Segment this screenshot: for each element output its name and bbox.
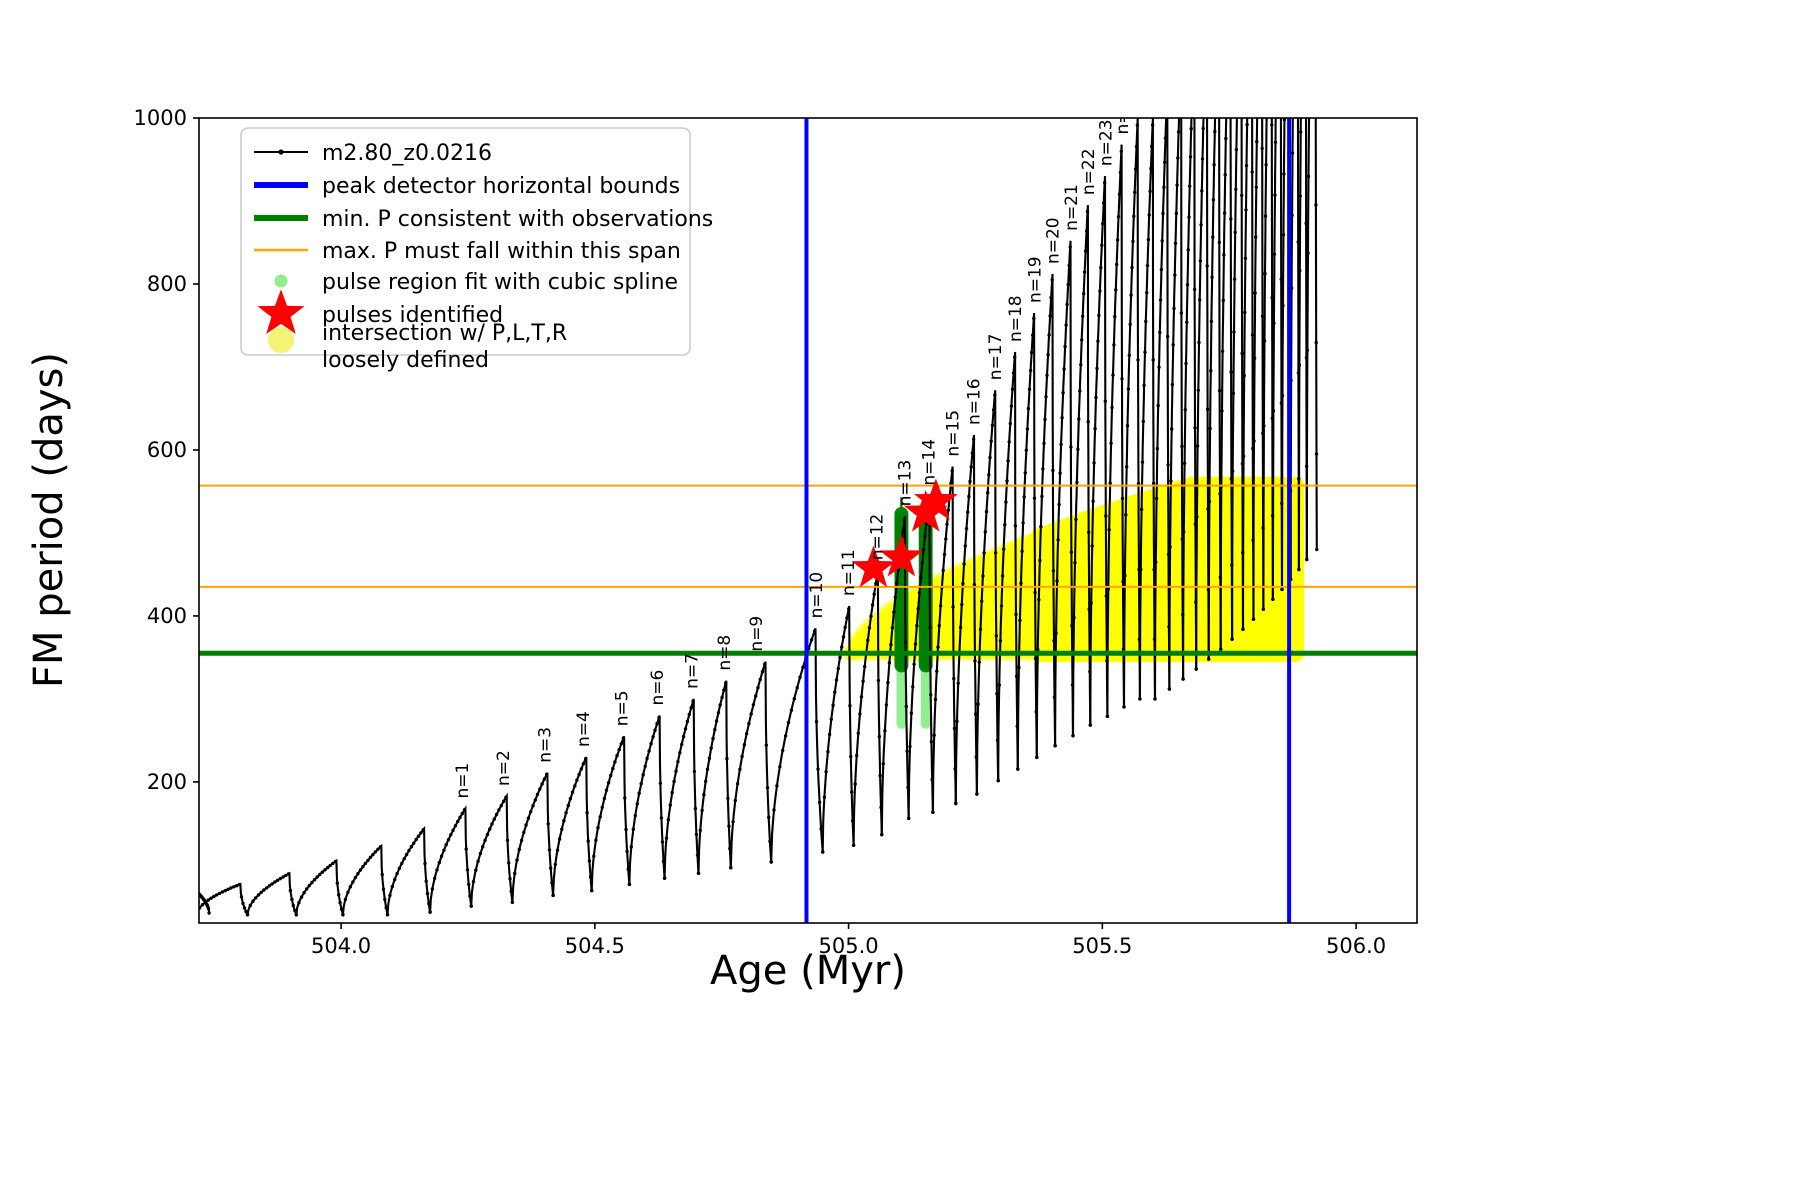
pulse-label: n=9	[747, 616, 767, 652]
track-point	[1187, 215, 1190, 218]
track-point	[458, 816, 461, 819]
track-point	[770, 860, 773, 863]
track-point	[1142, 420, 1145, 423]
track-point	[547, 822, 550, 825]
track-point	[1129, 323, 1132, 326]
track-point	[531, 804, 534, 807]
track-point	[1009, 422, 1012, 425]
track-point	[1135, 145, 1138, 148]
track-point	[1010, 404, 1013, 407]
track-point	[659, 782, 662, 785]
track-point	[374, 850, 377, 853]
track-point	[919, 576, 922, 579]
track-point	[1280, 588, 1283, 591]
track-point	[691, 699, 694, 702]
track-point	[1111, 373, 1114, 376]
track-point	[1153, 697, 1156, 700]
legend-label-series: m2.80_z0.0216	[322, 141, 492, 166]
track-point	[556, 849, 559, 852]
track-point	[1251, 170, 1254, 173]
track-point	[1006, 459, 1009, 462]
track-point	[1086, 210, 1089, 213]
track-point	[590, 889, 593, 892]
track-point	[1184, 362, 1187, 365]
track-point	[821, 850, 824, 853]
track-point	[1062, 367, 1065, 370]
track-point	[346, 891, 349, 894]
track-point	[265, 886, 268, 889]
track-point	[816, 767, 819, 770]
marker-dot-icon	[278, 149, 283, 154]
track-point	[1047, 333, 1050, 336]
light-green-dot-icon	[275, 275, 288, 288]
track-point	[1139, 568, 1142, 571]
track-point	[613, 760, 616, 763]
track-point	[1199, 259, 1202, 262]
track-point	[1161, 239, 1164, 242]
track-point	[761, 670, 764, 673]
track-point	[908, 745, 911, 748]
track-point	[1218, 389, 1221, 392]
track-point	[300, 895, 303, 898]
track-point	[767, 816, 770, 819]
track-point	[1245, 123, 1248, 126]
track-point	[1189, 155, 1192, 158]
track-point	[636, 802, 639, 805]
track-point	[720, 696, 723, 699]
track-point	[1299, 194, 1302, 197]
track-point	[229, 886, 232, 889]
track-point	[644, 765, 647, 768]
legend-entry-spline[interactable]: pulse region fit with cubic spline	[275, 270, 679, 295]
track-point	[1042, 442, 1045, 445]
track-point	[754, 694, 757, 697]
track-point	[310, 881, 313, 884]
track-point	[1027, 407, 1030, 410]
track-point	[740, 755, 743, 758]
track-point	[624, 828, 627, 831]
track-point	[364, 862, 367, 865]
track-point	[474, 869, 477, 872]
track-point	[965, 527, 968, 530]
track-point	[1039, 525, 1042, 528]
track-point	[923, 535, 926, 538]
track-point	[978, 661, 981, 664]
track-point	[1218, 241, 1221, 244]
track-point	[1243, 374, 1246, 377]
track-point	[966, 511, 969, 514]
track-point	[1035, 756, 1038, 759]
track-point	[833, 691, 836, 694]
track-point	[466, 868, 469, 871]
track-point	[295, 913, 298, 916]
track-point	[1148, 190, 1151, 193]
track-point	[1163, 161, 1166, 164]
track-point	[1184, 408, 1187, 411]
track-point	[1255, 186, 1258, 189]
track-point	[1051, 278, 1054, 281]
track-point	[476, 860, 479, 863]
track-point	[1033, 497, 1036, 500]
legend[interactable]: m2.80_z0.0216 peak detector horizontal b…	[241, 128, 713, 373]
track-point	[1181, 677, 1184, 680]
y-axis-label: FM period (days)	[26, 352, 72, 688]
track-point	[1281, 304, 1284, 307]
track-point	[400, 862, 403, 865]
track-point	[251, 900, 254, 903]
track-point	[1240, 194, 1243, 197]
track-point	[1078, 389, 1081, 392]
pulse-label: n=18	[1006, 295, 1026, 342]
track-point	[605, 789, 608, 792]
track-point	[454, 824, 457, 827]
track-point	[775, 784, 778, 787]
track-point	[305, 887, 308, 890]
track-point	[747, 722, 750, 725]
track-point	[529, 810, 532, 813]
track-point	[1262, 424, 1265, 427]
track-point	[445, 843, 448, 846]
track-point	[607, 781, 610, 784]
track-point	[1104, 514, 1107, 517]
pulse-label: n=20	[1044, 217, 1064, 264]
track-point	[684, 727, 687, 730]
track-point	[1210, 276, 1213, 279]
legend-entry-min-period[interactable]: min. P consistent with observations	[254, 207, 713, 232]
track-point	[778, 765, 781, 768]
track-point	[915, 624, 918, 627]
track-point	[818, 801, 821, 804]
track-point	[1041, 467, 1044, 470]
track-point	[599, 815, 602, 818]
track-point	[415, 838, 418, 841]
track-point	[1014, 524, 1017, 527]
track-point	[545, 773, 548, 776]
track-point	[1102, 201, 1105, 204]
track-point	[1103, 181, 1106, 184]
y-tick-label: 200	[147, 770, 187, 794]
track-point	[395, 872, 398, 875]
track-point	[991, 424, 994, 427]
track-point	[954, 802, 957, 805]
track-point	[1149, 167, 1152, 170]
track-point	[1252, 618, 1255, 621]
track-point	[1173, 273, 1176, 276]
track-point	[1263, 339, 1266, 342]
track-point	[456, 820, 459, 823]
track-point	[1072, 616, 1075, 619]
track-point	[1084, 250, 1087, 253]
track-point	[1131, 240, 1134, 243]
track-point	[781, 749, 784, 752]
track-point	[1147, 238, 1150, 241]
track-point	[815, 720, 818, 723]
track-point	[483, 839, 486, 842]
track-point	[697, 872, 700, 875]
x-tick-label: 505.5	[1072, 934, 1132, 958]
track-point	[500, 804, 503, 807]
track-point	[207, 898, 210, 901]
track-point	[823, 796, 826, 799]
track-point	[1159, 298, 1162, 301]
y-tick-label: 400	[147, 604, 187, 628]
track-point	[1003, 523, 1006, 526]
track-point	[982, 551, 985, 554]
track-point	[1171, 383, 1174, 386]
track-point	[1145, 291, 1148, 294]
track-point	[979, 628, 982, 631]
track-point	[1160, 268, 1163, 271]
track-point	[849, 755, 852, 758]
track-point	[1124, 513, 1127, 516]
track-point	[463, 808, 466, 811]
track-point	[1004, 501, 1007, 504]
track-point	[738, 768, 741, 771]
track-point	[1119, 171, 1122, 174]
track-point	[1166, 335, 1169, 338]
track-point	[1174, 242, 1177, 245]
track-point	[493, 817, 496, 820]
track-point	[1230, 638, 1233, 641]
track-point	[1095, 367, 1098, 370]
track-point	[645, 757, 648, 760]
track-point	[1315, 548, 1318, 551]
track-point	[1104, 400, 1107, 403]
track-point	[772, 808, 775, 811]
track-point	[1074, 518, 1077, 521]
track-point	[1109, 442, 1112, 445]
track-point	[622, 736, 625, 739]
track-point	[660, 816, 663, 819]
track-point	[495, 813, 498, 816]
track-point	[847, 607, 850, 610]
track-point	[671, 791, 674, 794]
track-point	[1297, 568, 1300, 571]
track-point	[246, 913, 249, 916]
track-point	[813, 630, 816, 633]
track-point	[382, 888, 385, 891]
track-point	[886, 681, 889, 684]
track-point	[868, 626, 871, 629]
track-point	[722, 688, 725, 691]
track-point	[787, 721, 790, 724]
track-point	[287, 872, 290, 875]
track-point	[1100, 244, 1103, 247]
track-point	[1263, 272, 1266, 275]
track-point	[638, 792, 641, 795]
track-point	[1229, 370, 1232, 373]
track-point	[784, 734, 787, 737]
pulse-label: n=3	[536, 727, 556, 763]
track-point	[962, 562, 965, 565]
track-point	[756, 686, 759, 689]
track-point	[422, 828, 425, 831]
track-point	[587, 839, 590, 842]
track-point	[686, 720, 689, 723]
track-point	[1185, 321, 1188, 324]
track-point	[988, 456, 991, 459]
track-point	[349, 885, 352, 888]
track-point	[724, 681, 727, 684]
track-point	[1240, 352, 1243, 355]
track-point	[577, 773, 580, 776]
track-point	[1134, 167, 1137, 170]
track-point	[1016, 767, 1019, 770]
track-point	[878, 774, 881, 777]
track-point	[318, 873, 321, 876]
track-point	[929, 693, 932, 696]
track-point	[682, 735, 685, 738]
track-point	[1221, 350, 1224, 353]
track-point	[883, 729, 886, 732]
track-point	[243, 906, 246, 909]
track-point	[1273, 253, 1276, 256]
track-point	[356, 872, 359, 875]
track-point	[522, 831, 525, 834]
track-point	[405, 853, 408, 856]
track-point	[994, 551, 997, 554]
track-point	[949, 482, 952, 485]
track-point	[975, 792, 978, 795]
track-point	[1224, 137, 1227, 140]
track-point	[1196, 444, 1199, 447]
track-point	[1210, 320, 1213, 323]
track-point	[973, 659, 976, 662]
track-point	[536, 793, 539, 796]
track-point	[858, 712, 861, 715]
track-point	[674, 770, 677, 773]
track-point	[567, 804, 570, 807]
track-point	[914, 642, 917, 645]
track-point	[866, 639, 869, 642]
track-point	[1061, 391, 1064, 394]
track-point	[676, 760, 679, 763]
track-point	[585, 811, 588, 814]
track-point	[506, 839, 509, 842]
track-point	[810, 638, 813, 641]
track-point	[980, 600, 983, 603]
track-point	[934, 698, 937, 701]
track-point	[221, 890, 224, 893]
track-point	[857, 732, 860, 735]
track-point	[1031, 334, 1034, 337]
track-point	[1164, 136, 1167, 139]
track-point	[376, 848, 379, 851]
track-point	[207, 911, 210, 914]
track-point	[1233, 278, 1236, 281]
track-point	[905, 750, 908, 753]
track-point	[1211, 235, 1214, 238]
track-point	[1098, 289, 1101, 292]
track-point	[765, 743, 768, 746]
track-point	[1140, 508, 1143, 511]
track-point	[361, 865, 364, 868]
track-point	[1229, 217, 1232, 220]
track-point	[680, 743, 683, 746]
pulse-label: n=14	[920, 439, 940, 486]
track-point	[1175, 212, 1178, 215]
track-point	[465, 847, 468, 850]
track-point	[527, 817, 530, 820]
track-point	[1033, 591, 1036, 594]
track-point	[985, 510, 988, 513]
track-point	[1271, 598, 1274, 601]
track-point	[1096, 340, 1099, 343]
track-point	[623, 796, 626, 799]
track-point	[1212, 198, 1215, 201]
track-point	[1021, 521, 1024, 524]
track-point	[973, 583, 976, 586]
track-point	[935, 670, 938, 673]
track-point	[1241, 628, 1244, 631]
track-point	[981, 574, 984, 577]
track-point	[1099, 266, 1102, 269]
track-point	[1245, 164, 1248, 167]
track-point	[628, 883, 631, 886]
track-point	[1298, 269, 1301, 272]
track-point	[955, 720, 958, 723]
track-point	[1307, 175, 1310, 178]
track-point	[508, 877, 511, 880]
track-point	[412, 841, 415, 844]
track-point	[1110, 406, 1113, 409]
track-point	[706, 768, 709, 771]
track-point	[1032, 317, 1035, 320]
track-point	[938, 624, 941, 627]
track-point	[1038, 559, 1041, 562]
track-point	[449, 833, 452, 836]
track-point	[1299, 130, 1302, 133]
track-point	[1075, 481, 1078, 484]
track-point	[1200, 189, 1203, 192]
track-point	[1220, 409, 1223, 412]
track-point	[1136, 358, 1139, 361]
x-tick-label: 504.5	[565, 934, 625, 958]
track-point	[943, 553, 946, 556]
track-point	[1069, 445, 1072, 448]
track-point	[1244, 208, 1247, 211]
track-point	[931, 811, 934, 814]
track-point	[661, 840, 664, 843]
track-point	[693, 770, 696, 773]
track-point	[1170, 427, 1173, 430]
track-point	[801, 666, 804, 669]
track-point	[543, 777, 546, 780]
track-point	[1081, 315, 1084, 318]
track-point	[1306, 349, 1309, 352]
track-point	[651, 735, 654, 738]
track-point	[588, 859, 591, 862]
track-point	[647, 749, 650, 752]
legend-label-intersection-line2: loosely defined	[322, 348, 489, 373]
track-point	[540, 782, 543, 785]
track-point	[486, 833, 489, 836]
track-point	[1169, 479, 1172, 482]
track-point	[1223, 212, 1226, 215]
track-point	[901, 530, 904, 533]
track-point	[1291, 151, 1294, 154]
track-point	[1244, 257, 1247, 260]
track-point	[642, 773, 645, 776]
track-point	[379, 845, 382, 848]
track-point	[502, 800, 505, 803]
track-point	[1157, 366, 1160, 369]
track-point	[1055, 579, 1058, 582]
track-point	[625, 850, 628, 853]
track-point	[1069, 245, 1072, 248]
track-point	[653, 729, 656, 732]
track-point	[366, 859, 369, 862]
